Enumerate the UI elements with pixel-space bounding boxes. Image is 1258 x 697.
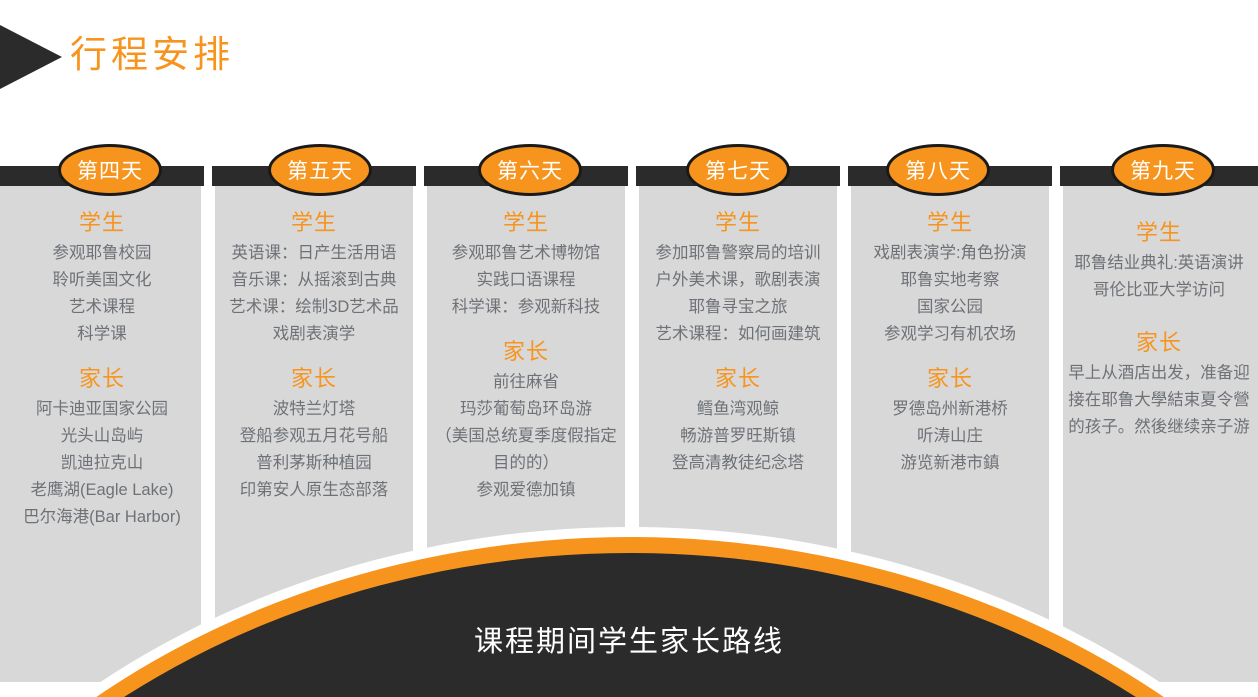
list-item: 巴尔海港(Bar Harbor) xyxy=(4,504,200,531)
list-item: 前往麻省 xyxy=(428,369,624,396)
list-item: 参观爱德加镇 xyxy=(428,477,624,504)
parent-activity-list: 罗德岛州新港桥 听涛山庄 游览新港市鎮 xyxy=(852,396,1048,477)
parent-activity-list: 早上从酒店出发，准备迎接在耶鲁大學結束夏令營的孩子。然後继续亲子游 xyxy=(1064,360,1254,441)
group-title-parent: 家长 xyxy=(640,364,836,394)
student-group: 学生 参加耶鲁警察局的培训 户外美术课，歌剧表演 耶鲁寻宝之旅 艺术课程：如何画… xyxy=(640,208,836,348)
day-badge[interactable]: 第四天 xyxy=(58,144,162,196)
list-item: 耶鲁结业典礼:英语演讲 xyxy=(1064,250,1254,277)
list-item: 耶鲁实地考察 xyxy=(852,267,1048,294)
day-badge-label: 第四天 xyxy=(77,155,143,185)
list-item: 音乐课：从摇滚到古典 xyxy=(216,267,412,294)
student-activity-list: 英语课：日产生活用语 音乐课：从摇滚到古典 艺术课：绘制3D艺术品 戏剧表演学 xyxy=(216,240,412,348)
list-item: 波特兰灯塔 xyxy=(216,396,412,423)
list-item: 艺术课程 xyxy=(4,294,200,321)
day-badge[interactable]: 第九天 xyxy=(1111,144,1215,196)
parent-group: 家长 鳕鱼湾观鲸 畅游普罗旺斯镇 登高清教徒纪念塔 xyxy=(640,364,836,477)
list-item: 艺术课：绘制3D艺术品 xyxy=(216,294,412,321)
group-title-parent: 家长 xyxy=(1064,328,1254,358)
list-item: 鳕鱼湾观鲸 xyxy=(640,396,836,423)
list-item: 参加耶鲁警察局的培训 xyxy=(640,240,836,267)
list-item: 英语课：日产生活用语 xyxy=(216,240,412,267)
parent-activity-list: 前往麻省 玛莎葡萄岛环岛游 （美国总统夏季度假指定目的的） 参观爱德加镇 xyxy=(428,369,624,504)
day-badge-label: 第八天 xyxy=(905,155,971,185)
list-item: 早上从酒店出发，准备迎接在耶鲁大學結束夏令營的孩子。然後继续亲子游 xyxy=(1064,360,1254,441)
student-group: 学生 耶鲁结业典礼:英语演讲 哥伦比亚大学访问 xyxy=(1064,218,1254,304)
group-title-parent: 家长 xyxy=(4,364,200,394)
day-badge[interactable]: 第五天 xyxy=(268,144,372,196)
column-content: 学生 参观耶鲁校园 聆听美国文化 艺术课程 科学课 家长 阿卡迪亚国家公园 光头… xyxy=(0,208,204,547)
student-activity-list: 参加耶鲁警察局的培训 户外美术课，歌剧表演 耶鲁寻宝之旅 艺术课程：如何画建筑 xyxy=(640,240,836,348)
list-item: 参观耶鲁校园 xyxy=(4,240,200,267)
list-item: 印第安人原生态部落 xyxy=(216,477,412,504)
day-badge-label: 第五天 xyxy=(287,155,353,185)
list-item: 戏剧表演学 xyxy=(216,321,412,348)
list-item: 老鹰湖(Eagle Lake) xyxy=(4,477,200,504)
footer-caption: 课程期间学生家长路线 xyxy=(0,618,1258,660)
group-title-student: 学生 xyxy=(4,208,200,238)
list-item: 凯迪拉克山 xyxy=(4,450,200,477)
parent-activity-list: 阿卡迪亚国家公园 光头山岛屿 凯迪拉克山 老鹰湖(Eagle Lake) 巴尔海… xyxy=(4,396,200,531)
list-item: 科学课 xyxy=(4,321,200,348)
group-title-student: 学生 xyxy=(216,208,412,238)
parent-activity-list: 鳕鱼湾观鲸 畅游普罗旺斯镇 登高清教徒纪念塔 xyxy=(640,396,836,477)
group-title-student: 学生 xyxy=(1064,218,1254,248)
student-group: 学生 英语课：日产生活用语 音乐课：从摇滚到古典 艺术课：绘制3D艺术品 戏剧表… xyxy=(216,208,412,348)
list-item: 游览新港市鎮 xyxy=(852,450,1048,477)
day-badge-label: 第六天 xyxy=(497,155,563,185)
list-item: 国家公园 xyxy=(852,294,1048,321)
list-item: 艺术课程：如何画建筑 xyxy=(640,321,836,348)
parent-group: 家长 波特兰灯塔 登船参观五月花号船 普利茅斯种植园 印第安人原生态部落 xyxy=(216,364,412,504)
group-title-parent: 家长 xyxy=(428,337,624,367)
parent-activity-list: 波特兰灯塔 登船参观五月花号船 普利茅斯种植园 印第安人原生态部落 xyxy=(216,396,412,504)
student-activity-list: 参观耶鲁校园 聆听美国文化 艺术课程 科学课 xyxy=(4,240,200,348)
triangle-right-icon xyxy=(0,25,62,89)
student-activity-list: 耶鲁结业典礼:英语演讲 哥伦比亚大学访问 xyxy=(1064,250,1254,304)
student-activity-list: 参观耶鲁艺术博物馆 实践口语课程 科学课：参观新科技 xyxy=(428,240,624,321)
column-content: 学生 英语课：日产生活用语 音乐课：从摇滚到古典 艺术课：绘制3D艺术品 戏剧表… xyxy=(212,208,416,520)
group-title-parent: 家长 xyxy=(216,364,412,394)
day-badge-label: 第九天 xyxy=(1130,155,1196,185)
list-item: 阿卡迪亚国家公园 xyxy=(4,396,200,423)
list-item: 听涛山庄 xyxy=(852,423,1048,450)
list-item: 户外美术课，歌剧表演 xyxy=(640,267,836,294)
student-group: 学生 戏剧表演学:角色扮演 耶鲁实地考察 国家公园 参观学习有机农场 xyxy=(852,208,1048,348)
list-item: （美国总统夏季度假指定目的的） xyxy=(428,423,624,477)
day-badge-label: 第七天 xyxy=(705,155,771,185)
list-item: 参观学习有机农场 xyxy=(852,321,1048,348)
student-group: 学生 参观耶鲁校园 聆听美国文化 艺术课程 科学课 xyxy=(4,208,200,348)
day-badge[interactable]: 第七天 xyxy=(686,144,790,196)
list-item: 罗德岛州新港桥 xyxy=(852,396,1048,423)
day-badge[interactable]: 第六天 xyxy=(478,144,582,196)
student-activity-list: 戏剧表演学:角色扮演 耶鲁实地考察 国家公园 参观学习有机农场 xyxy=(852,240,1048,348)
column-content: 学生 参加耶鲁警察局的培训 户外美术课，歌剧表演 耶鲁寻宝之旅 艺术课程：如何画… xyxy=(636,208,840,493)
list-item: 实践口语课程 xyxy=(428,267,624,294)
group-title-parent: 家长 xyxy=(852,364,1048,394)
parent-group: 家长 前往麻省 玛莎葡萄岛环岛游 （美国总统夏季度假指定目的的） 参观爱德加镇 xyxy=(428,337,624,504)
slide-header: 行程安排 xyxy=(0,0,1258,118)
parent-group: 家长 早上从酒店出发，准备迎接在耶鲁大學結束夏令營的孩子。然後继续亲子游 xyxy=(1064,328,1254,441)
parent-group: 家长 阿卡迪亚国家公园 光头山岛屿 凯迪拉克山 老鹰湖(Eagle Lake) … xyxy=(4,364,200,531)
list-item: 光头山岛屿 xyxy=(4,423,200,450)
column-content: 学生 参观耶鲁艺术博物馆 实践口语课程 科学课：参观新科技 家长 前往麻省 玛莎… xyxy=(424,208,628,520)
list-item: 普利茅斯种植园 xyxy=(216,450,412,477)
list-item: 登高清教徒纪念塔 xyxy=(640,450,836,477)
slide: 行程安排 第四天 学生 参观耶鲁校园 聆听美国文化 艺术课程 科学课 xyxy=(0,0,1258,697)
list-item: 畅游普罗旺斯镇 xyxy=(640,423,836,450)
group-title-student: 学生 xyxy=(640,208,836,238)
group-title-student: 学生 xyxy=(852,208,1048,238)
list-item: 参观耶鲁艺术博物馆 xyxy=(428,240,624,267)
parent-group: 家长 罗德岛州新港桥 听涛山庄 游览新港市鎮 xyxy=(852,364,1048,477)
list-item: 玛莎葡萄岛环岛游 xyxy=(428,396,624,423)
list-item: 聆听美国文化 xyxy=(4,267,200,294)
list-item: 登船参观五月花号船 xyxy=(216,423,412,450)
list-item: 哥伦比亚大学访问 xyxy=(1064,277,1254,304)
list-item: 科学课：参观新科技 xyxy=(428,294,624,321)
list-item: 戏剧表演学:角色扮演 xyxy=(852,240,1048,267)
page-title: 行程安排 xyxy=(70,33,234,77)
column-content: 学生 耶鲁结业典礼:英语演讲 哥伦比亚大学访问 家长 早上从酒店出发，准备迎接在… xyxy=(1060,218,1258,457)
group-title-student: 学生 xyxy=(428,208,624,238)
column-content: 学生 戏剧表演学:角色扮演 耶鲁实地考察 国家公园 参观学习有机农场 家长 罗德… xyxy=(848,208,1052,493)
list-item: 耶鲁寻宝之旅 xyxy=(640,294,836,321)
student-group: 学生 参观耶鲁艺术博物馆 实践口语课程 科学课：参观新科技 xyxy=(428,208,624,321)
day-badge[interactable]: 第八天 xyxy=(886,144,990,196)
